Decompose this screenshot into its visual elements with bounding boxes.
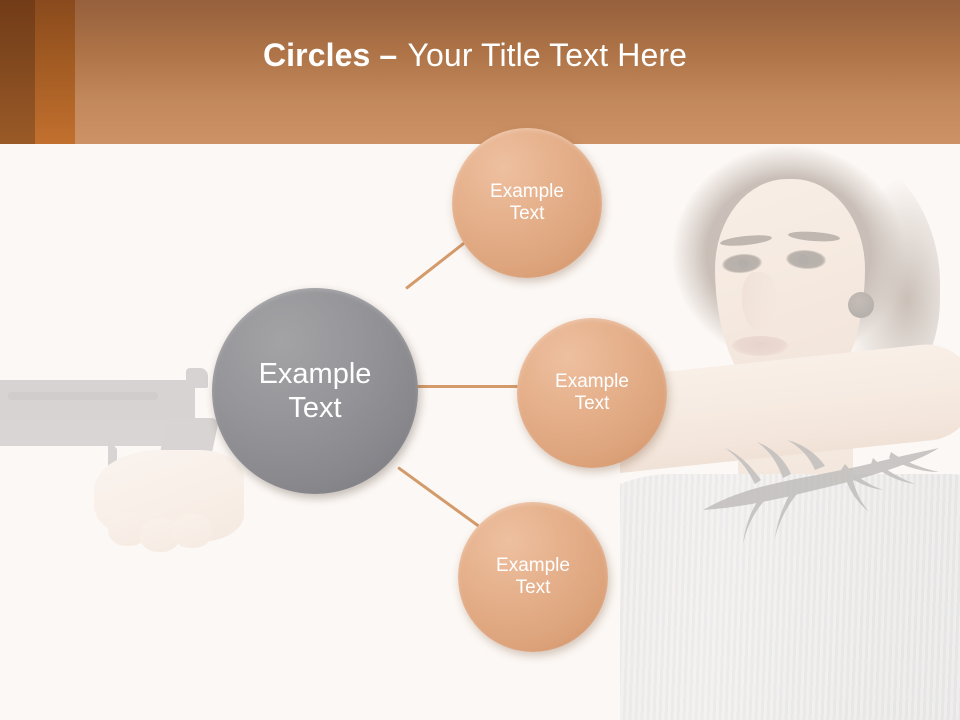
connector-center-to-bottom: [397, 466, 486, 532]
branch-node-bottom[interactable]: Example Text: [458, 502, 608, 652]
branch-node-middle-line1: Example: [555, 371, 629, 393]
presentation-slide: Circles – Your Title Text Here Example T…: [0, 0, 960, 720]
center-node-line2: Text: [288, 391, 341, 425]
center-node[interactable]: Example Text: [212, 288, 418, 494]
branch-node-top[interactable]: Example Text: [452, 128, 602, 278]
branch-node-bottom-line1: Example: [496, 555, 570, 577]
branch-node-middle-line2: Text: [575, 393, 610, 415]
circles-diagram: Example Text Example Text Example Text E…: [0, 0, 960, 720]
branch-node-middle[interactable]: Example Text: [517, 318, 667, 468]
center-node-line1: Example: [259, 357, 372, 391]
connector-center-to-middle: [416, 385, 521, 388]
branch-node-top-line2: Text: [510, 203, 545, 225]
branch-node-top-line1: Example: [490, 181, 564, 203]
branch-node-bottom-line2: Text: [516, 577, 551, 599]
